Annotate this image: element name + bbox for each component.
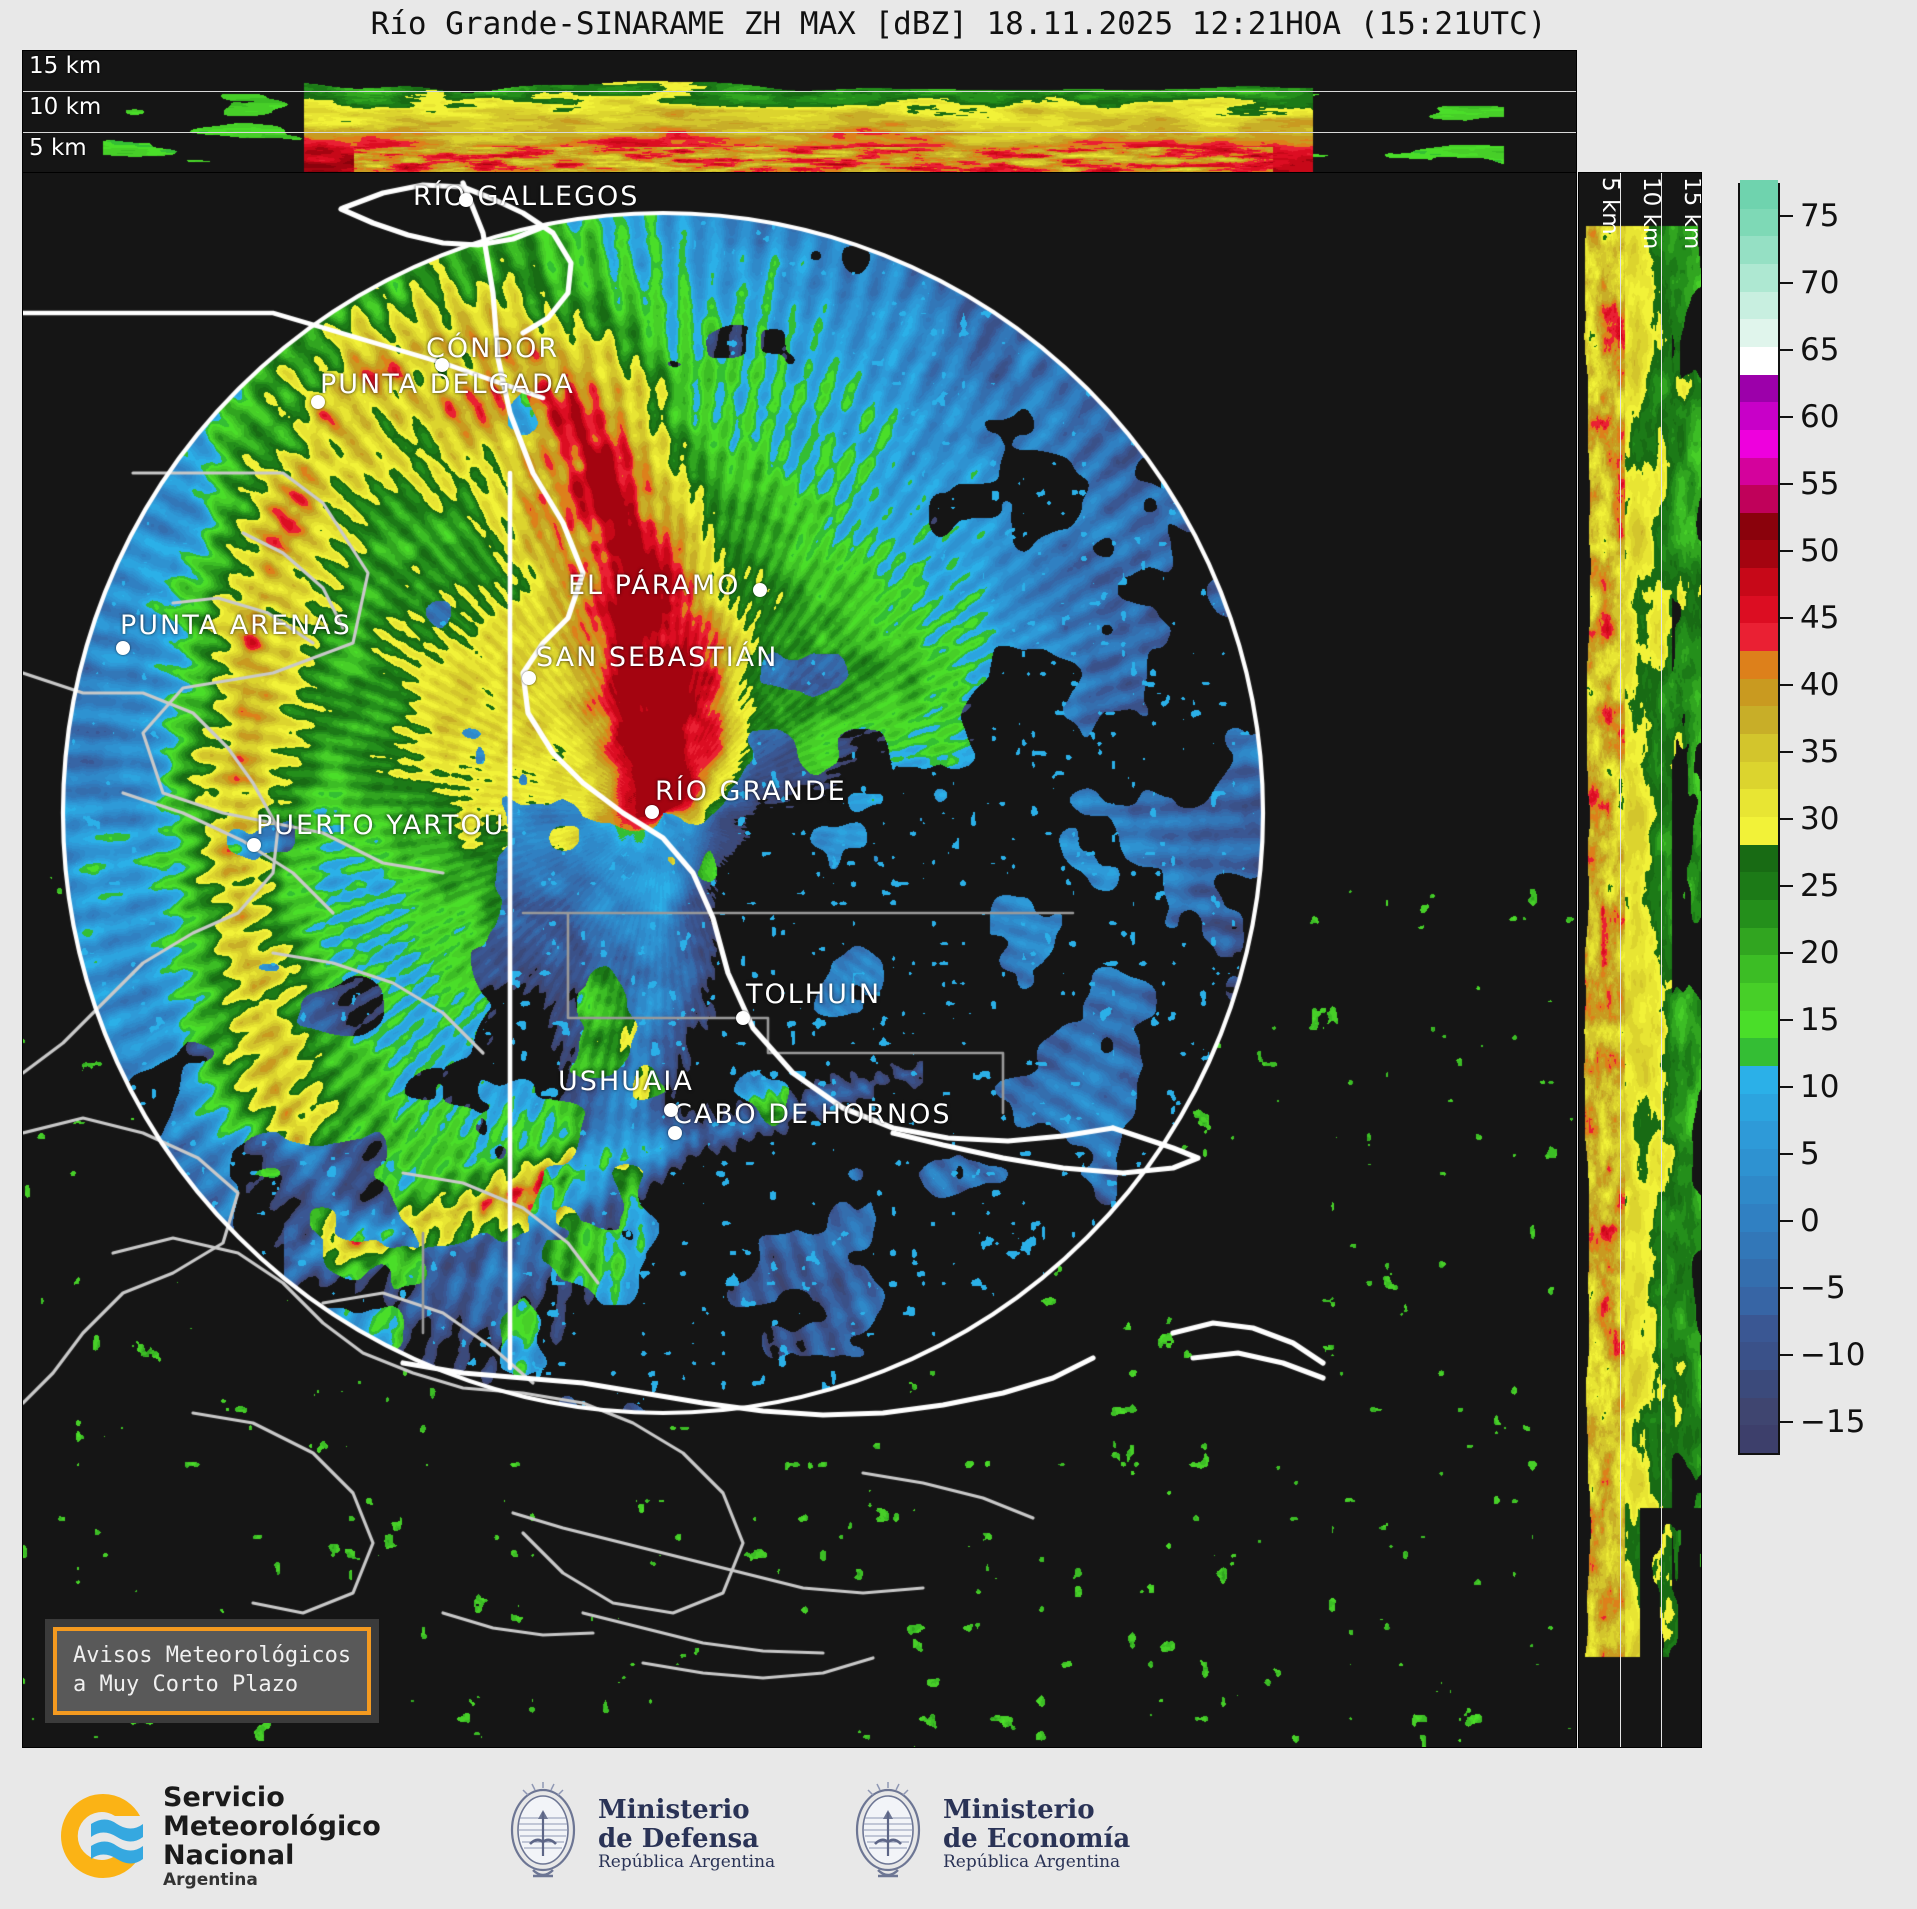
colorbar-tick-label: 60 [1800,399,1839,435]
colorbar-segment [1740,1065,1778,1093]
colorbar-tick [1780,483,1793,485]
logo-ministerio-defensa: Ministerio de Defensa República Argentin… [500,1782,775,1886]
colorbar-segment [1740,1093,1778,1121]
colorbar-segment [1740,485,1778,513]
colorbar-segment [1740,180,1778,208]
colorbar-tick [1780,1019,1793,1021]
colorbar-tick-label: 10 [1800,1069,1839,1105]
colorbar-tick-label: 70 [1800,265,1839,301]
footer-logos: Servicio Meteorológico Nacional Argentin… [0,1762,1917,1909]
colorbar-segment [1740,982,1778,1010]
colorbar-segment [1740,402,1778,430]
colorbar-segment [1740,1176,1778,1204]
colorbar-tick-label: 15 [1800,1002,1839,1038]
colorbar-tick [1780,1086,1793,1088]
colorbar-segment [1740,1342,1778,1370]
city-label-punta-delgada: PUNTA DELGADA [320,369,575,400]
top-height-label-5km: 5 km [29,135,87,161]
colorbar-tick-label: 30 [1800,801,1839,837]
gridline-5km [1620,173,1621,1747]
logo-ministerio-economia: Ministerio de Economía República Argenti… [845,1782,1130,1886]
colorbar-segment [1740,651,1778,679]
colorbar-tick-label: −5 [1800,1270,1846,1306]
smn-line-2: Meteorológico [163,1813,381,1842]
smn-line-1: Servicio [163,1784,381,1813]
city-marker-dot [645,805,659,819]
economia-line-3: República Argentina [943,1853,1130,1872]
colorbar-tick-label: 20 [1800,935,1839,971]
city-marker-dot [522,671,536,685]
city-marker-dot [736,1011,750,1025]
colorbar-segment [1740,816,1778,844]
colorbar-tick-label: 35 [1800,734,1839,770]
colorbar-gradient [1738,183,1780,1455]
city-label-el-páramo: EL PÁRAMO [568,570,740,601]
defensa-line-2: de Defensa [598,1825,775,1854]
colorbar-tick [1780,1354,1793,1356]
city-marker-dot [311,395,325,409]
colorbar-segment [1740,1121,1778,1149]
side-height-label-15km: 15 km [1679,177,1702,249]
colorbar-segment [1740,1287,1778,1315]
colorbar-tick-label: −10 [1800,1337,1865,1373]
colorbar-tick [1780,215,1793,217]
city-marker-dot [664,1103,678,1117]
colorbar-segment [1740,789,1778,817]
economia-line-2: de Economía [943,1825,1130,1854]
colorbar-segment [1740,346,1778,374]
colorbar-tick [1780,1220,1793,1222]
colorbar-tick-label: 40 [1800,667,1839,703]
city-label-san-sebastián: SAN SEBASTIÁN [536,642,778,673]
smn-line-4: Argentina [163,1871,381,1889]
city-marker-dot [247,838,261,852]
colorbar-tick [1780,1153,1793,1155]
colorbar-segment [1740,374,1778,402]
logo-smn: Servicio Meteorológico Nacional Argentin… [55,1784,381,1889]
colorbar-segment [1740,595,1778,623]
city-label-puerto-yartou: PUERTO YARTOU [256,810,505,841]
colorbar-segment [1740,1010,1778,1038]
city-label-cabo-de-hornos: CABO DE HORNOS [673,1099,952,1130]
city-marker-dot [668,1126,682,1140]
warning-line-1: Avisos Meteorológicos [73,1641,351,1670]
defensa-line-3: República Argentina [598,1853,775,1872]
top-height-label-15km: 15 km [29,53,101,79]
colorbar-segment [1740,1397,1778,1425]
colorbar-tick-label: 65 [1800,332,1839,368]
colorbar-segment [1740,872,1778,900]
defensa-line-1: Ministerio [598,1796,775,1825]
city-label-ushuaia: USHUAIA [558,1066,694,1097]
colorbar-tick [1780,684,1793,686]
city-marker-dot [753,583,767,597]
gridline-10km [23,132,1576,133]
colorbar-legend: −15−10−5051015202530354045505560657075 [1738,183,1898,1455]
colorbar-segment [1740,512,1778,540]
colorbar-segment [1740,540,1778,568]
colorbar-segment [1740,678,1778,706]
colorbar-segment [1740,899,1778,927]
colorbar-segment [1740,1369,1778,1397]
colorbar-segment [1740,1425,1778,1453]
city-label-punta-arenas: PUNTA ARENAS [120,610,352,641]
smn-line-3: Nacional [163,1842,381,1871]
argentina-shield-icon-2 [845,1782,931,1886]
colorbar-segment [1740,1314,1778,1342]
colorbar-tick [1780,818,1793,820]
colorbar-segment [1740,1038,1778,1066]
side-height-label-10km: 10 km [1638,177,1664,249]
colorbar-segment [1740,761,1778,789]
colorbar-tick-label: 5 [1800,1136,1820,1172]
colorbar-tick [1780,1421,1793,1423]
city-marker-dot [459,193,473,207]
colorbar-tick [1780,416,1793,418]
colorbar-tick-label: 25 [1800,868,1839,904]
colorbar-tick [1780,1287,1793,1289]
radar-map-panel[interactable]: RÍO GALLEGOSCÓNDORPUNTA DELGADAEL PÁRAMO… [22,172,1577,1748]
colorbar-segment [1740,1259,1778,1287]
nowcast-warning-box[interactable]: Avisos Meteorológicos a Muy Corto Plazo [53,1627,371,1715]
colorbar-tick [1780,885,1793,887]
colorbar-segment [1740,733,1778,761]
colorbar-tick [1780,751,1793,753]
colorbar-tick-label: 0 [1800,1203,1820,1239]
city-label-tolhuin: TOLHUIN [746,979,881,1010]
colorbar-tick [1780,952,1793,954]
gridline-15km [23,91,1576,92]
warning-line-2: a Muy Corto Plazo [73,1670,351,1699]
vertical-cross-section-right-panel: 5 km 10 km 15 km [1578,172,1702,1748]
colorbar-tick-label: 50 [1800,533,1839,569]
colorbar-segment [1740,955,1778,983]
colorbar-segment [1740,236,1778,264]
city-label-río-gallegos: RÍO GALLEGOS [413,181,639,212]
colorbar-segment [1740,927,1778,955]
colorbar-segment [1740,208,1778,236]
colorbar-segment [1740,623,1778,651]
city-marker-dot [116,641,130,655]
colorbar-segment [1740,568,1778,596]
city-label-río-grande: RÍO GRANDE [655,776,847,807]
colorbar-tick [1780,282,1793,284]
colorbar-segment [1740,457,1778,485]
economia-line-1: Ministerio [943,1796,1130,1825]
colorbar-tick [1780,617,1793,619]
colorbar-tick [1780,550,1793,552]
colorbar-tick-label: −15 [1800,1404,1865,1440]
colorbar-segment [1740,319,1778,347]
colorbar-segment [1740,1231,1778,1259]
colorbar-segment [1740,263,1778,291]
colorbar-tick-label: 55 [1800,466,1839,502]
colorbar-segment [1740,1204,1778,1232]
colorbar-segment [1740,844,1778,872]
colorbar-tick-label: 45 [1800,600,1839,636]
smn-logo-icon [55,1788,151,1884]
colorbar-segment [1740,706,1778,734]
top-height-label-10km: 10 km [29,94,101,120]
vertical-cross-section-top-panel: 15 km 10 km 5 km [22,50,1577,174]
colorbar-tick-label: 75 [1800,198,1839,234]
city-marker-dot [435,358,449,372]
colorbar-segment [1740,429,1778,457]
page-title: Río Grande-SINARAME ZH MAX [dBZ] 18.11.2… [0,6,1917,42]
gridline-10km-v [1661,173,1662,1747]
side-height-label-5km: 5 km [1597,177,1623,235]
colorbar-tick [1780,349,1793,351]
argentina-shield-icon [500,1782,586,1886]
colorbar-segment [1740,291,1778,319]
colorbar-segment [1740,1148,1778,1176]
